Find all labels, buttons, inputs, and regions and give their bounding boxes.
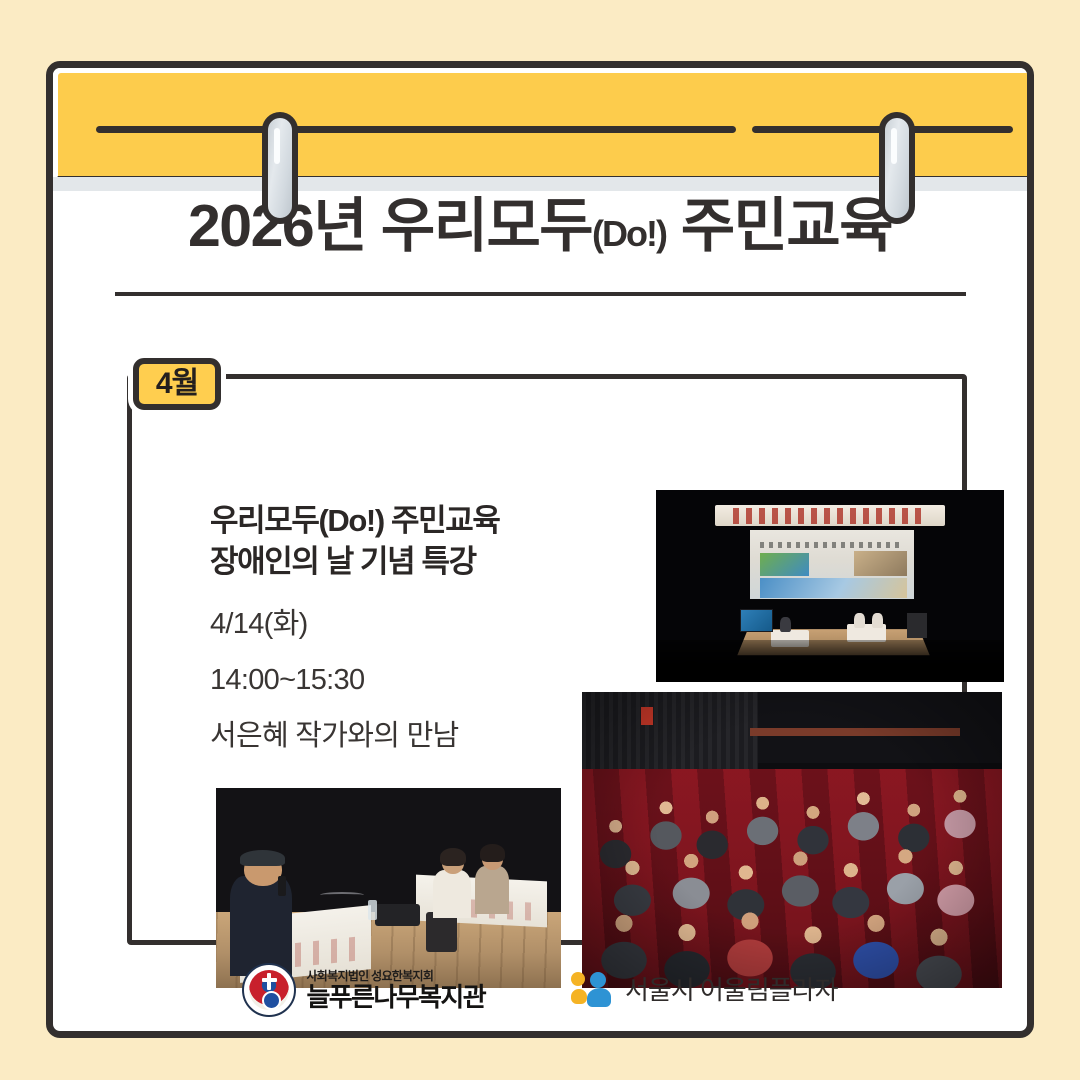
- program-headline-line1: 우리모두(Do!) 주민교육: [210, 501, 590, 542]
- title-divider: [115, 292, 966, 296]
- photo-panel-talk: [216, 788, 561, 988]
- page-title-do-tag: (Do!): [592, 213, 666, 254]
- logo-neulpureunnamu: 사회복지법인 성요한복지회 늘푸른나무복지관: [242, 963, 485, 1017]
- logo-neulpureunnamu-subtitle: 사회복지법인 성요한복지회: [306, 970, 485, 982]
- poster-card: 2026년 우리모두(Do!) 주민교육 우리모두(Do!) 주민교육 장애인의…: [46, 61, 1034, 1038]
- saint-john-emblem-icon: [242, 963, 296, 1017]
- page-title-suffix: 주민교육: [666, 193, 892, 259]
- logo-seoul-eoullim-plaza-name: 서울시 어울림플라자: [625, 977, 838, 1003]
- clipboard-rule-left: [96, 126, 736, 133]
- eoullim-people-icon: [571, 972, 613, 1008]
- binder-clip-left-icon: [262, 112, 298, 224]
- program-content-box: 우리모두(Do!) 주민교육 장애인의 날 기념 특강 4/14(화) 14:0…: [127, 374, 967, 945]
- month-badge-label: 4월: [156, 369, 198, 399]
- month-badge: 4월: [133, 358, 221, 410]
- page-title-prefix: 2026년 우리모두: [188, 193, 592, 259]
- logo-neulpureunnamu-name: 늘푸른나무복지관: [306, 984, 485, 1010]
- program-guest: 서은혜 작가와의 만남: [210, 722, 590, 751]
- photo-stage-wide: [656, 490, 1004, 682]
- program-info-block: 우리모두(Do!) 주민교육 장애인의 날 기념 특강 4/14(화) 14:0…: [210, 501, 590, 751]
- program-time: 14:00~15:30: [210, 666, 590, 695]
- logo-seoul-eoullim-plaza: 서울시 어울림플라자: [571, 972, 838, 1008]
- footer-logos: 사회복지법인 성요한복지회 늘푸른나무복지관 서울시 어울림플라자: [53, 963, 1027, 1017]
- photo-audience: [582, 692, 1002, 988]
- binder-clip-right-icon: [879, 112, 915, 224]
- program-headline-line2: 장애인의 날 기념 특강: [210, 542, 590, 583]
- program-date: 4/14(화): [210, 610, 590, 639]
